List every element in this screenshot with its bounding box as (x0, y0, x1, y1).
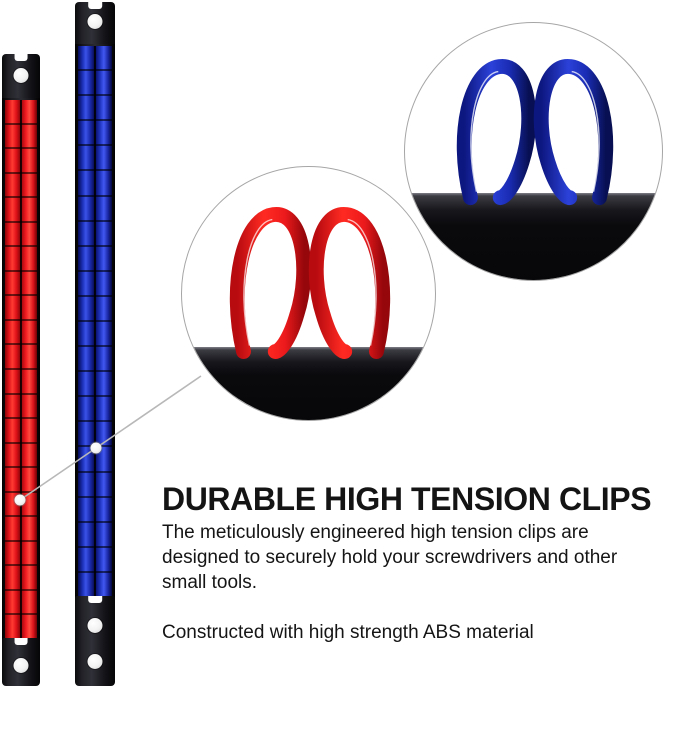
clip-segment (5, 345, 37, 370)
clip-center-gap (94, 171, 96, 196)
clip-center-gap (94, 523, 96, 548)
clip-half-right (21, 174, 37, 199)
clip-half-right (95, 171, 112, 196)
red-rail-top-mount-plate (2, 54, 40, 102)
clip-half-left (5, 296, 21, 321)
clip-segment (78, 171, 112, 196)
clip-segment (5, 100, 37, 125)
clip-center-gap (94, 197, 96, 222)
clip-center-gap (20, 517, 22, 542)
clip-half-right (95, 523, 112, 548)
blue-rail-top-screw-hole (88, 14, 103, 29)
clip-segment (78, 71, 112, 96)
clip-half-right (95, 222, 112, 247)
red-tool-rail (2, 54, 40, 686)
clip-half-left (5, 468, 21, 493)
clip-center-gap (20, 321, 22, 346)
clip-half-left (78, 247, 95, 272)
clip-half-right (95, 548, 112, 573)
clip-half-right (21, 100, 37, 125)
clip-half-right (95, 498, 112, 523)
clip-half-right (21, 615, 37, 640)
clip-half-right (21, 345, 37, 370)
clip-half-left (78, 272, 95, 297)
blue-rail-top-mount-plate (75, 2, 115, 48)
clip-half-left (78, 171, 95, 196)
clip-center-gap (94, 397, 96, 422)
clip-half-right (21, 468, 37, 493)
clip-half-left (78, 372, 95, 397)
feature-footnote: Constructed with high strength ABS mater… (162, 620, 534, 645)
clip-half-left (5, 149, 21, 174)
clip-half-left (78, 548, 95, 573)
clip-center-gap (20, 247, 22, 272)
clip-half-right (95, 573, 112, 598)
clip-segment (5, 370, 37, 395)
clip-segment (78, 222, 112, 247)
clip-half-left (78, 146, 95, 171)
clip-center-gap (20, 615, 22, 640)
clip-segment (78, 46, 112, 71)
clip-half-right (95, 322, 112, 347)
clip-half-right (95, 347, 112, 372)
blue-rail-bottom-mount-plate (75, 596, 115, 686)
clip-center-gap (20, 272, 22, 297)
clip-center-gap (94, 347, 96, 372)
clip-segment (78, 523, 112, 548)
clip-half-right (95, 146, 112, 171)
clip-center-gap (20, 223, 22, 248)
clip-half-right (95, 372, 112, 397)
clip-half-left (5, 591, 21, 616)
clip-half-right (95, 297, 112, 322)
clip-half-left (5, 198, 21, 223)
clip-center-gap (20, 174, 22, 199)
clip-half-right (21, 198, 37, 223)
clip-segment (78, 573, 112, 598)
clip-half-left (5, 125, 21, 150)
clip-center-gap (94, 222, 96, 247)
clip-segment (5, 395, 37, 420)
clip-segment (78, 372, 112, 397)
clip-center-gap (94, 297, 96, 322)
clip-segment (5, 542, 37, 567)
clip-segment (5, 615, 37, 640)
clip-half-right (21, 272, 37, 297)
clip-half-left (78, 498, 95, 523)
clip-center-gap (20, 444, 22, 469)
clip-center-gap (20, 566, 22, 591)
clip-segment (5, 468, 37, 493)
red-rail-top-screw-hole (14, 68, 29, 83)
clip-segment (78, 146, 112, 171)
clip-half-right (21, 223, 37, 248)
clip-center-gap (20, 149, 22, 174)
clip-segment (5, 517, 37, 542)
clip-half-right (21, 517, 37, 542)
clip-half-right (95, 272, 112, 297)
clip-center-gap (94, 46, 96, 71)
clip-center-gap (20, 345, 22, 370)
clip-center-gap (94, 146, 96, 171)
clip-center-gap (20, 542, 22, 567)
clip-segment (78, 247, 112, 272)
clip-half-right (95, 96, 112, 121)
clip-center-gap (94, 573, 96, 598)
clip-half-left (78, 347, 95, 372)
clip-center-gap (94, 96, 96, 121)
clip-segment (78, 96, 112, 121)
clip-half-left (78, 473, 95, 498)
clip-half-left (5, 174, 21, 199)
clip-half-right (21, 125, 37, 150)
clip-half-left (5, 542, 21, 567)
red-rail-bottom-mount-plate (2, 638, 40, 686)
clip-half-left (5, 370, 21, 395)
clip-half-left (78, 197, 95, 222)
clip-center-gap (94, 272, 96, 297)
clip-segment (5, 149, 37, 174)
clip-segment (78, 548, 112, 573)
clip-segment (78, 397, 112, 422)
clip-segment (78, 322, 112, 347)
clip-half-left (78, 71, 95, 96)
clip-half-right (21, 591, 37, 616)
clip-half-left (5, 345, 21, 370)
clip-center-gap (20, 468, 22, 493)
clip-half-right (21, 542, 37, 567)
clip-half-left (78, 397, 95, 422)
clip-half-left (5, 272, 21, 297)
clip-half-left (78, 322, 95, 347)
blue-rail-bottom-screw-hole-upper (88, 618, 103, 633)
clip-segment (5, 296, 37, 321)
blue-clip-stack (78, 46, 112, 598)
clip-segment (78, 297, 112, 322)
clip-half-right (21, 566, 37, 591)
clip-center-gap (20, 198, 22, 223)
clip-half-left (78, 573, 95, 598)
clip-segment (5, 591, 37, 616)
clip-half-right (21, 395, 37, 420)
clip-half-right (21, 444, 37, 469)
clip-segment (78, 498, 112, 523)
clip-half-left (78, 297, 95, 322)
clip-half-right (95, 121, 112, 146)
feature-paragraph: The meticulously engineered high tension… (162, 520, 662, 595)
clip-center-gap (20, 100, 22, 125)
clip-half-left (5, 566, 21, 591)
clip-half-right (95, 247, 112, 272)
red-rail-bottom-screw-hole (14, 658, 29, 673)
clip-half-right (21, 149, 37, 174)
clip-segment (5, 174, 37, 199)
clip-segment (5, 125, 37, 150)
clip-half-left (5, 321, 21, 346)
blue-rail-bottom-screw-hole-lower (88, 654, 103, 669)
product-feature-canvas: DURABLE HIGH TENSION CLIPS The meticulou… (0, 0, 679, 747)
clip-segment (78, 197, 112, 222)
clip-center-gap (94, 71, 96, 96)
clip-half-left (78, 523, 95, 548)
clip-half-left (78, 222, 95, 247)
clip-half-left (78, 121, 95, 146)
clip-half-left (5, 395, 21, 420)
feature-headline: DURABLE HIGH TENSION CLIPS (162, 481, 651, 518)
clip-half-right (95, 197, 112, 222)
red-clip-stack (5, 100, 37, 640)
clip-half-left (78, 46, 95, 71)
clip-center-gap (94, 473, 96, 498)
blue-rail-callout-dot (91, 443, 102, 454)
clip-center-gap (94, 322, 96, 347)
clip-half-right (95, 46, 112, 71)
clip-center-gap (94, 498, 96, 523)
clip-segment (5, 444, 37, 469)
blue-closeup-clip-graphic (405, 23, 662, 280)
clip-center-gap (20, 395, 22, 420)
clip-center-gap (20, 419, 22, 444)
clip-segment (5, 247, 37, 272)
clip-segment (5, 419, 37, 444)
clip-segment (78, 272, 112, 297)
clip-segment (78, 473, 112, 498)
red-clip-closeup (181, 166, 436, 421)
clip-half-right (95, 71, 112, 96)
clip-segment (78, 347, 112, 372)
red-rail-callout-dot (15, 495, 26, 506)
clip-half-left (5, 419, 21, 444)
clip-half-left (5, 517, 21, 542)
clip-half-right (21, 247, 37, 272)
clip-half-right (95, 473, 112, 498)
clip-half-left (5, 223, 21, 248)
red-closeup-clip-graphic (182, 167, 435, 420)
clip-half-right (21, 296, 37, 321)
clip-center-gap (20, 370, 22, 395)
clip-half-right (21, 321, 37, 346)
clip-center-gap (94, 548, 96, 573)
clip-center-gap (20, 296, 22, 321)
clip-segment (5, 321, 37, 346)
clip-half-left (5, 615, 21, 640)
clip-half-left (78, 96, 95, 121)
clip-center-gap (94, 372, 96, 397)
blue-tool-rail (75, 2, 115, 686)
clip-segment (5, 566, 37, 591)
clip-segment (5, 198, 37, 223)
clip-segment (78, 121, 112, 146)
clip-half-left (5, 100, 21, 125)
clip-center-gap (94, 247, 96, 272)
clip-half-right (21, 370, 37, 395)
clip-segment (5, 223, 37, 248)
clip-center-gap (20, 591, 22, 616)
clip-segment (5, 272, 37, 297)
blue-clip-closeup (404, 22, 663, 281)
clip-half-left (5, 444, 21, 469)
clip-half-right (95, 397, 112, 422)
clip-center-gap (94, 121, 96, 146)
clip-center-gap (20, 125, 22, 150)
clip-half-left (5, 247, 21, 272)
clip-half-right (21, 419, 37, 444)
